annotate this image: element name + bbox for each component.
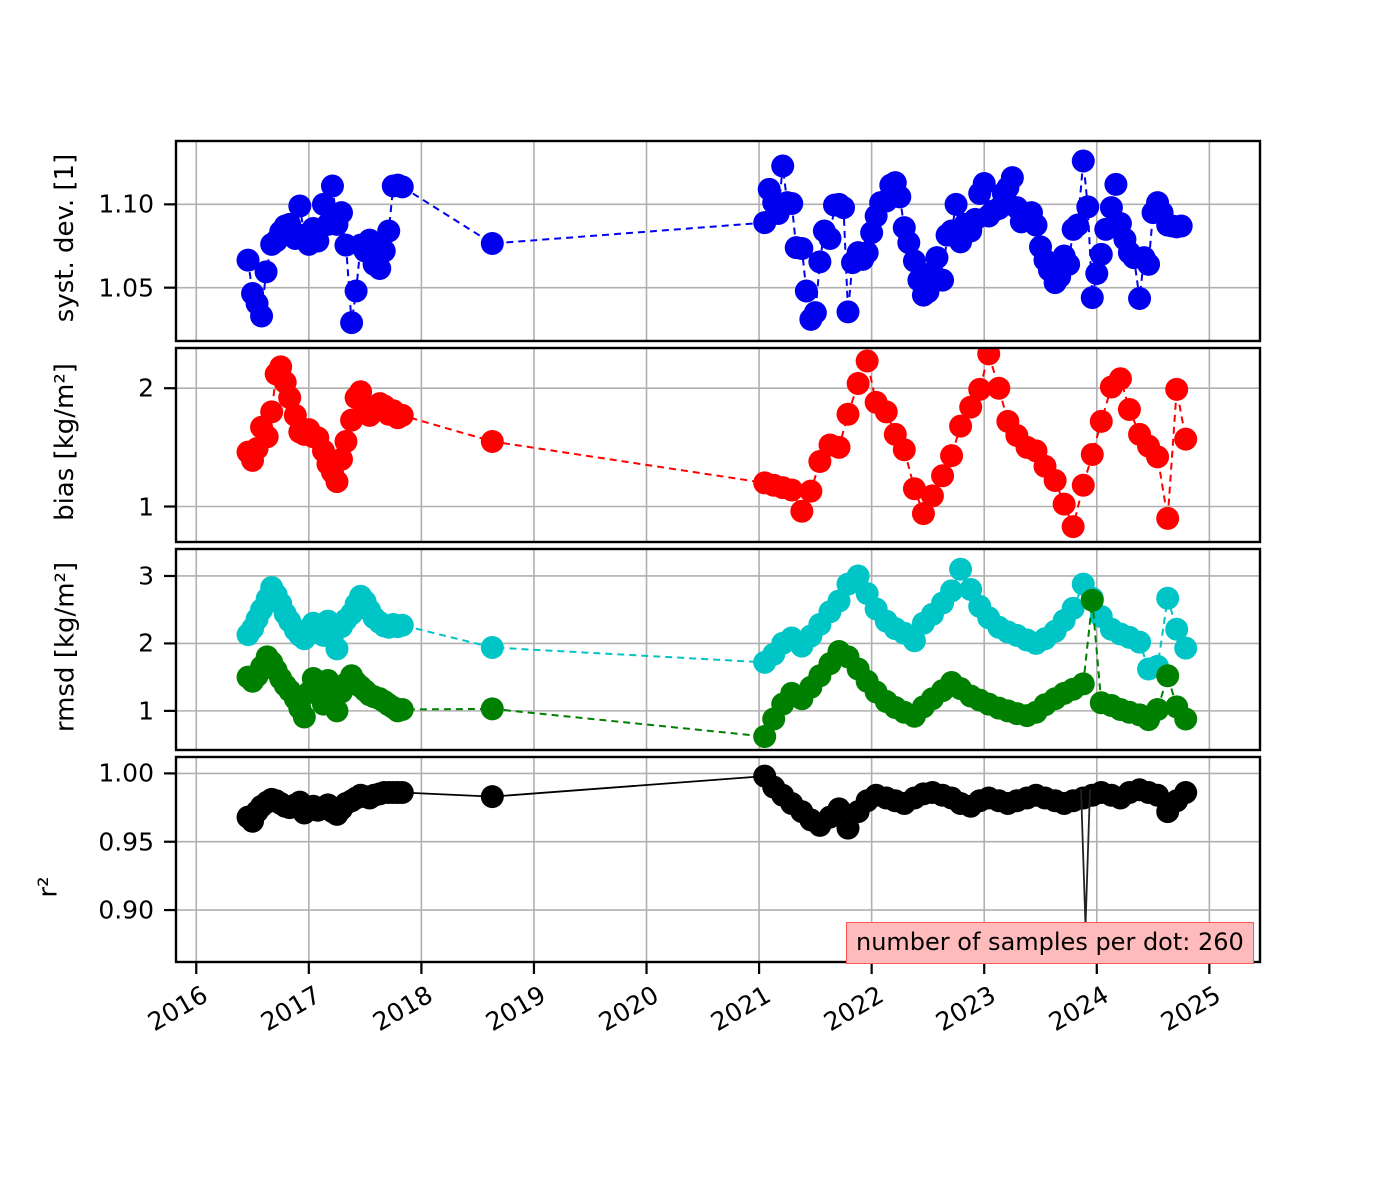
data-point-r-squared bbox=[1174, 781, 1197, 804]
data-point-syst-dev bbox=[819, 227, 842, 250]
sample-count-annotation: number of samples per dot: 260 bbox=[846, 922, 1254, 964]
data-point-syst-dev bbox=[321, 175, 344, 198]
data-point-rmsd-total bbox=[481, 636, 504, 659]
y-tick-label: 1 bbox=[0, 696, 154, 725]
data-point-rmsd-total bbox=[1174, 637, 1197, 660]
data-point-rmsd-random bbox=[293, 705, 316, 728]
data-point-rmsd-total bbox=[949, 558, 972, 581]
data-point-syst-dev bbox=[1001, 166, 1024, 189]
y-tick-label: 3 bbox=[0, 561, 154, 590]
data-point-syst-dev bbox=[1090, 243, 1113, 266]
data-point-syst-dev bbox=[771, 155, 794, 178]
data-point-syst-dev bbox=[481, 232, 504, 255]
data-point-bias bbox=[1146, 445, 1169, 468]
data-point-syst-dev bbox=[1170, 215, 1193, 238]
data-point-syst-dev bbox=[804, 301, 827, 324]
data-point-syst-dev bbox=[373, 240, 396, 263]
data-point-bias bbox=[921, 484, 944, 507]
data-point-bias bbox=[790, 500, 813, 523]
data-point-bias bbox=[828, 436, 851, 459]
data-point-bias bbox=[391, 404, 414, 427]
data-point-syst-dev bbox=[1128, 287, 1151, 310]
data-point-syst-dev bbox=[808, 250, 831, 273]
data-point-syst-dev bbox=[1057, 253, 1080, 276]
data-point-bias bbox=[799, 480, 822, 503]
y-tick-label: 1.10 bbox=[0, 190, 154, 219]
data-point-syst-dev bbox=[1085, 262, 1108, 285]
data-point-bias bbox=[987, 377, 1010, 400]
figure-canvas: syst. dev. [1] bias [kg/m²] rmsd [kg/m²]… bbox=[0, 0, 1400, 1200]
data-point-syst-dev bbox=[250, 305, 273, 328]
data-point-bias bbox=[1109, 367, 1132, 390]
y-tick-label: 0.95 bbox=[0, 827, 154, 856]
data-point-syst-dev bbox=[925, 246, 948, 269]
data-point-bias bbox=[856, 350, 879, 373]
data-point-syst-dev bbox=[345, 280, 368, 303]
data-point-bias bbox=[893, 438, 916, 461]
data-point-bias bbox=[875, 400, 898, 423]
data-point-syst-dev bbox=[837, 300, 860, 323]
data-point-r-squared bbox=[481, 785, 504, 808]
data-point-bias bbox=[1081, 443, 1104, 466]
data-point-bias bbox=[837, 403, 860, 426]
data-point-syst-dev bbox=[377, 220, 400, 243]
data-point-syst-dev bbox=[1072, 150, 1095, 173]
data-point-rmsd-total bbox=[1156, 587, 1179, 610]
y-tick-label: 0.90 bbox=[0, 896, 154, 925]
data-point-bias bbox=[260, 400, 283, 423]
annotation-leader-line bbox=[1081, 789, 1090, 926]
data-point-bias bbox=[256, 425, 279, 448]
data-point-syst-dev bbox=[856, 241, 879, 264]
data-point-rmsd-random bbox=[391, 698, 414, 721]
data-point-rmsd-total bbox=[1128, 631, 1151, 654]
data-point-bias bbox=[1156, 507, 1179, 530]
data-point-syst-dev bbox=[340, 311, 363, 334]
data-point-syst-dev bbox=[330, 201, 353, 224]
data-point-bias bbox=[1072, 474, 1095, 497]
y-tick-label: 1.05 bbox=[0, 273, 154, 302]
data-point-syst-dev bbox=[832, 196, 855, 219]
data-point-syst-dev bbox=[1076, 195, 1099, 218]
data-point-syst-dev bbox=[888, 185, 911, 208]
data-point-syst-dev bbox=[391, 175, 414, 198]
data-point-bias bbox=[1044, 469, 1067, 492]
data-point-bias bbox=[1118, 398, 1141, 421]
data-point-bias bbox=[1062, 515, 1085, 538]
data-point-syst-dev bbox=[288, 195, 311, 218]
y-tick-label: 2 bbox=[0, 374, 154, 403]
series-line-bias bbox=[248, 354, 1186, 527]
y-tick-label: 2 bbox=[0, 629, 154, 658]
data-point-bias bbox=[931, 464, 954, 487]
data-point-bias bbox=[325, 470, 348, 493]
data-point-syst-dev bbox=[1104, 173, 1127, 196]
data-point-syst-dev bbox=[1081, 286, 1104, 309]
data-point-bias bbox=[1174, 428, 1197, 451]
y-tick-label: 1 bbox=[0, 492, 154, 521]
data-point-bias bbox=[1090, 410, 1113, 433]
data-point-bias bbox=[847, 372, 870, 395]
data-point-rmsd-random bbox=[1174, 707, 1197, 730]
data-point-rmsd-total bbox=[325, 637, 348, 660]
data-point-bias bbox=[1165, 378, 1188, 401]
data-point-bias bbox=[481, 430, 504, 453]
y-tick-label: 1.00 bbox=[0, 759, 154, 788]
data-point-syst-dev bbox=[780, 192, 803, 215]
data-point-syst-dev bbox=[945, 193, 968, 216]
data-point-rmsd-random bbox=[481, 697, 504, 720]
data-point-bias bbox=[334, 430, 357, 453]
data-point-rmsd-random bbox=[1081, 589, 1104, 612]
data-point-r-squared bbox=[391, 781, 414, 804]
data-point-rmsd-random bbox=[1156, 664, 1179, 687]
data-point-syst-dev bbox=[255, 260, 278, 283]
data-point-syst-dev bbox=[795, 280, 818, 303]
data-point-rmsd-total bbox=[391, 614, 414, 637]
data-point-syst-dev bbox=[1025, 214, 1048, 237]
data-point-bias bbox=[940, 444, 963, 467]
data-point-rmsd-random bbox=[1072, 672, 1095, 695]
data-point-bias bbox=[1053, 493, 1076, 516]
data-point-syst-dev bbox=[931, 269, 954, 292]
data-point-syst-dev bbox=[1137, 253, 1160, 276]
